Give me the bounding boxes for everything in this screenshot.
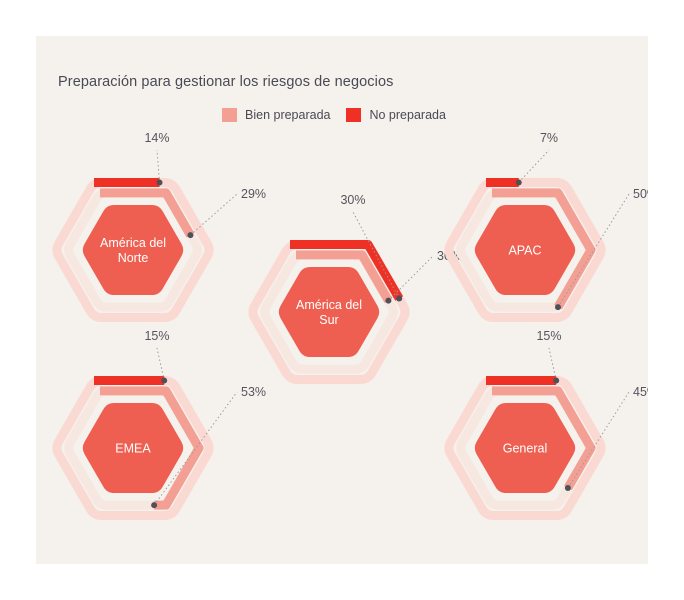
hexagon-gauge-emea[interactable]: EMEA15%53%: [57, 329, 266, 516]
hexagon-core-label: General: [503, 442, 547, 456]
hexagon-core-label: EMEA: [115, 442, 151, 456]
hexagon-core: [279, 267, 379, 357]
hexagon-core-label: Norte: [118, 251, 149, 265]
hexagon-core-label: Sur: [319, 313, 338, 327]
hexagon-gauge-field: América delNorte14%29%América delSur30%3…: [36, 36, 648, 564]
marker-dot-no-preparada: [157, 179, 163, 185]
value-label-bien-preparada: 45%: [633, 385, 648, 399]
value-label-no-preparada: 30%: [340, 193, 365, 207]
leader-line-bien-preparada: [388, 256, 433, 301]
marker-dot-no-preparada: [553, 377, 559, 383]
leader-line-bien-preparada: [190, 194, 237, 235]
hexagon-gauge-apac[interactable]: APAC7%50%: [449, 131, 648, 318]
marker-dot-no-preparada: [161, 377, 167, 383]
hexagon-gauge-america-del-sur[interactable]: América delSur30%30%: [253, 193, 462, 380]
leader-line-no-preparada: [157, 150, 160, 182]
value-label-no-preparada: 7%: [540, 131, 558, 145]
hexagon-gauge-america-del-norte[interactable]: América delNorte14%29%: [57, 131, 266, 318]
hexagon-core: [83, 205, 183, 295]
leader-line-no-preparada: [157, 348, 164, 380]
hexagon-core-label: América del: [296, 298, 362, 312]
leader-line-no-preparada: [549, 348, 556, 380]
hexagon-core-label: APAC: [508, 244, 541, 258]
marker-dot-bien-preparada: [151, 502, 157, 508]
value-label-bien-preparada: 50%: [633, 187, 648, 201]
leader-line-no-preparada: [519, 150, 549, 182]
value-label-no-preparada: 14%: [144, 131, 169, 145]
hexagon-core-label: América del: [100, 236, 166, 250]
chart-panel: Preparación para gestionar los riesgos d…: [36, 36, 648, 564]
marker-dot-bien-preparada: [555, 304, 561, 310]
marker-dot-no-preparada: [396, 295, 402, 301]
marker-dot-bien-preparada: [187, 232, 193, 238]
marker-dot-bien-preparada: [565, 485, 571, 491]
value-label-no-preparada: 15%: [144, 329, 169, 343]
hexagon-gauge-general[interactable]: General15%45%: [449, 329, 648, 516]
value-label-bien-preparada: 29%: [241, 187, 266, 201]
marker-dot-bien-preparada: [385, 298, 391, 304]
marker-dot-no-preparada: [516, 179, 522, 185]
value-label-bien-preparada: 53%: [241, 385, 266, 399]
value-label-no-preparada: 15%: [536, 329, 561, 343]
